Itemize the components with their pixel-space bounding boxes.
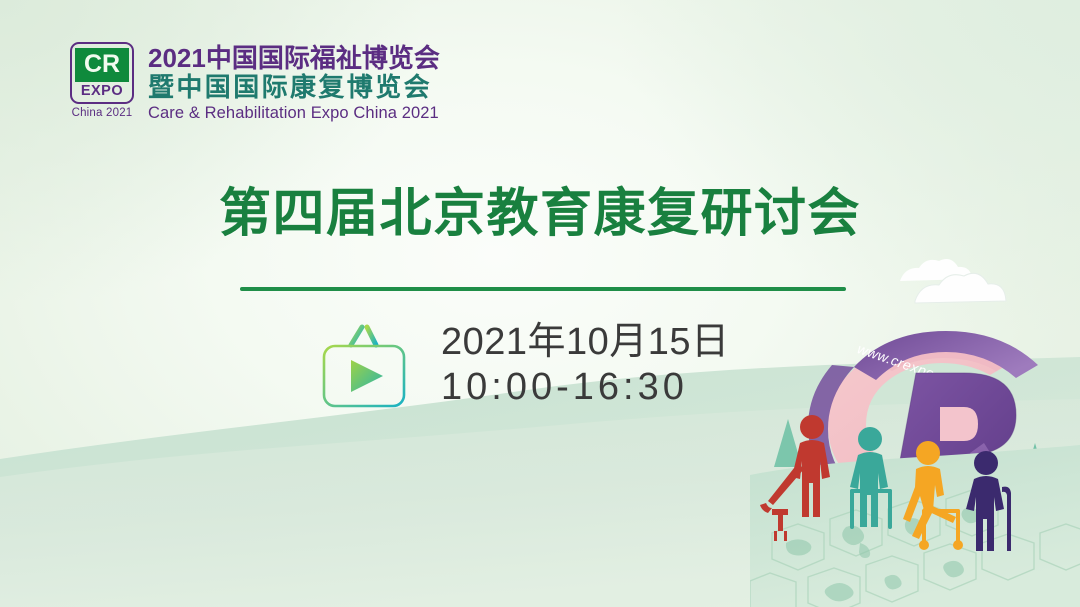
schedule-block: 2021年10月15日 10:00-16:30 [321,320,730,410]
logo-expo-text: EXPO [81,84,123,99]
branding-text-block: 2021中国国际福祉博览会 暨中国国际康复博览会 Care & Rehabili… [148,42,440,124]
event-date: 2021年10月15日 [441,320,730,365]
poster-canvas: CR EXPO China 2021 2021中国国际福祉博览会 暨中国国际康复… [0,0,1080,607]
live-tv-icon [321,321,407,409]
brand-line-chinese-primary: 2021中国国际福祉博览会 [148,44,440,73]
logo-cr-text: CR [75,48,129,82]
event-branding-header: CR EXPO China 2021 2021中国国际福祉博览会 暨中国国际康复… [66,42,440,124]
cloud-icon [900,259,1006,303]
cr-expo-logo: CR EXPO China 2021 [66,42,138,119]
logo-box: CR EXPO [70,42,134,104]
brand-line-chinese-secondary: 暨中国国际康复博览会 [148,73,440,102]
page-title: 第四届北京教育康复研讨会 [0,186,1080,243]
brand-line-english: Care & Rehabilitation Expo China 2021 [148,103,440,124]
event-time: 10:00-16:30 [441,365,730,410]
schedule-text: 2021年10月15日 10:00-16:30 [441,320,730,410]
logo-china-year-text: China 2021 [72,107,133,119]
cr-monogram-illustration: www.crexpo.cn [750,247,1080,607]
